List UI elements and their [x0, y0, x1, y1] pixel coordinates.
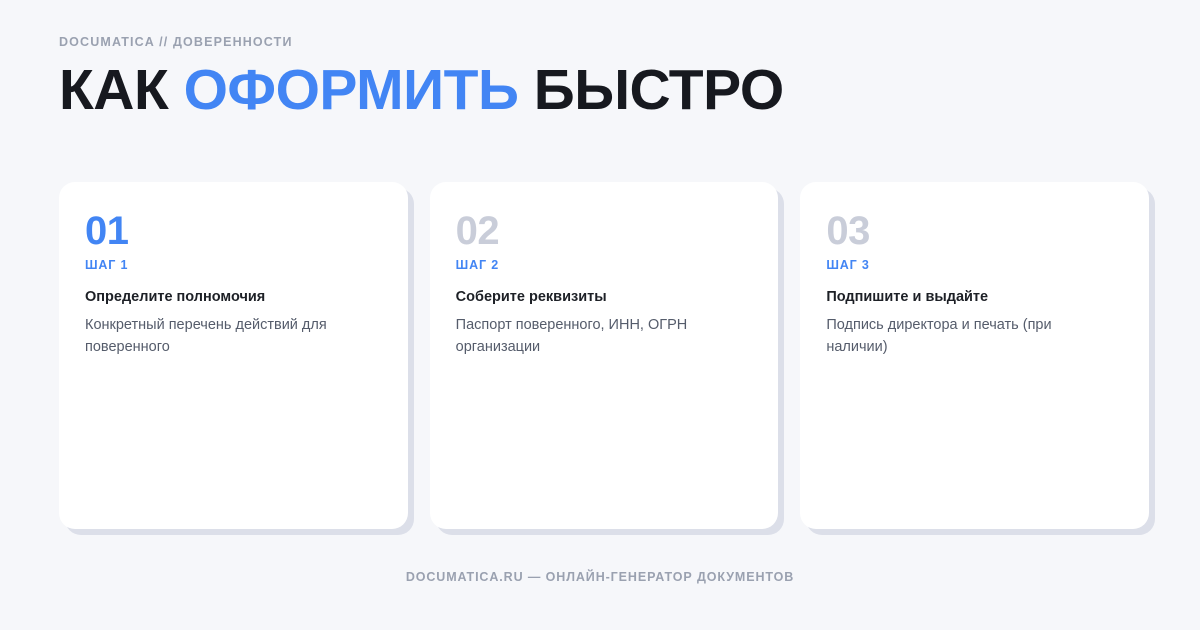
footer-caption: DOCUMATICA.RU — ОНЛАЙН-ГЕНЕРАТОР ДОКУМЕН… [0, 568, 1200, 586]
step-badge: ШАГ 2 [456, 258, 753, 273]
step-number: 03 [826, 210, 1123, 252]
step-description: Паспорт поверенного, ИНН, ОГРН организац… [456, 314, 706, 358]
step-badge: ШАГ 1 [85, 258, 382, 273]
step-number: 01 [85, 210, 382, 252]
page-title-accent-word: ОФОРМИТЬ [184, 58, 519, 122]
poster-canvas: DOCUMATICA // ДОВЕРЕННОСТИ КАК ОФОРМИТЬ … [0, 0, 1200, 630]
step-title: Определите полномочия [85, 288, 382, 307]
step-card-2[interactable]: 02 ШАГ 2 Соберите реквизиты Паспорт пове… [430, 182, 779, 529]
page-title-part-after: БЫСТРО [518, 58, 783, 122]
step-title: Соберите реквизиты [456, 288, 753, 307]
page-title: КАК ОФОРМИТЬ БЫСТРО [59, 59, 1149, 121]
step-badge: ШАГ 3 [826, 258, 1123, 273]
step-description: Конкретный перечень действий для поверен… [85, 314, 335, 358]
breadcrumb-eyebrow: DOCUMATICA // ДОВЕРЕННОСТИ [59, 34, 1149, 50]
step-card-3[interactable]: 03 ШАГ 3 Подпишите и выдайте Подпись дир… [800, 182, 1149, 529]
step-description: Подпись директора и печать (при наличии) [826, 314, 1076, 358]
page-title-part-before: КАК [59, 58, 184, 122]
step-card-1[interactable]: 01 ШАГ 1 Определите полномочия Конкретны… [59, 182, 408, 529]
steps-card-list: 01 ШАГ 1 Определите полномочия Конкретны… [59, 182, 1149, 529]
poster-header: DOCUMATICA // ДОВЕРЕННОСТИ КАК ОФОРМИТЬ … [59, 34, 1149, 159]
step-number: 02 [456, 210, 753, 252]
step-title: Подпишите и выдайте [826, 288, 1123, 307]
